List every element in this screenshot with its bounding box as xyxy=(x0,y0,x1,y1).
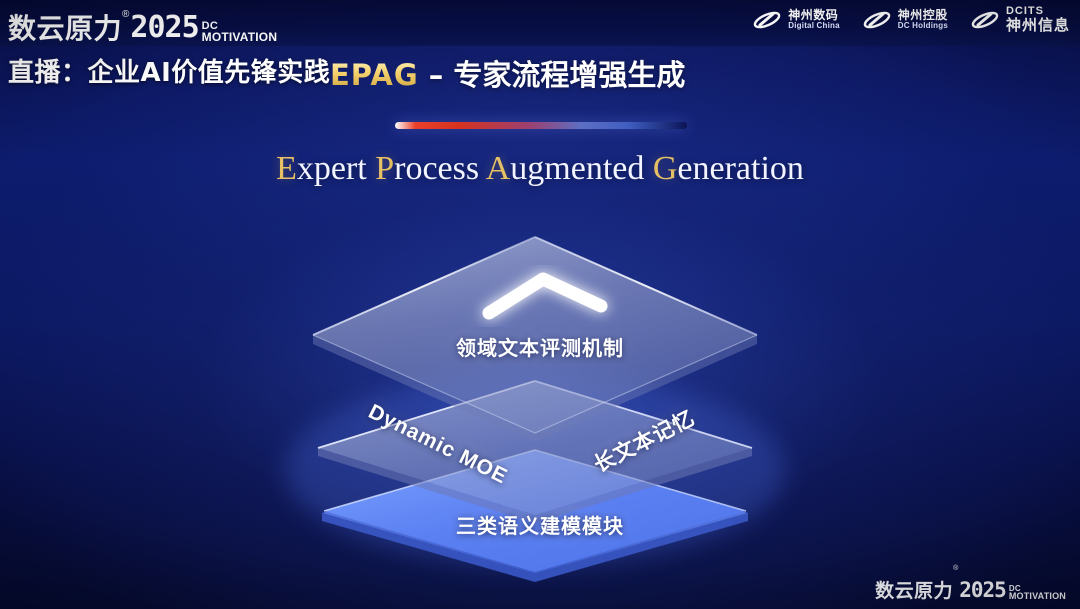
layer-bottom-label: 三类语义建模模块 xyxy=(0,510,1080,539)
footer-brand-registered-mark: ® xyxy=(953,561,958,572)
footer-brand-year: 2025 xyxy=(959,580,1006,601)
layer-top-label: 领域文本评测机制 xyxy=(0,332,1080,361)
footer-brand-motivation-label: MOTIVATION xyxy=(1009,592,1066,601)
footer-brand-dc-motivation: DC MOTIVATION xyxy=(1009,585,1066,601)
footer-brand-name-cn: 数云原力 xyxy=(875,582,953,601)
slide-canvas: 数云原力 ® 2025 DC MOTIVATION 直播：企业AI价值先锋实践 … xyxy=(0,0,1080,609)
footer-watermark: 数云原力 ® 2025 DC MOTIVATION xyxy=(875,561,1066,601)
layer-stack-diagram: 领域文本评测机制 Dynamic MOE 长文本记忆 三类语义建模模块 xyxy=(0,0,1080,609)
